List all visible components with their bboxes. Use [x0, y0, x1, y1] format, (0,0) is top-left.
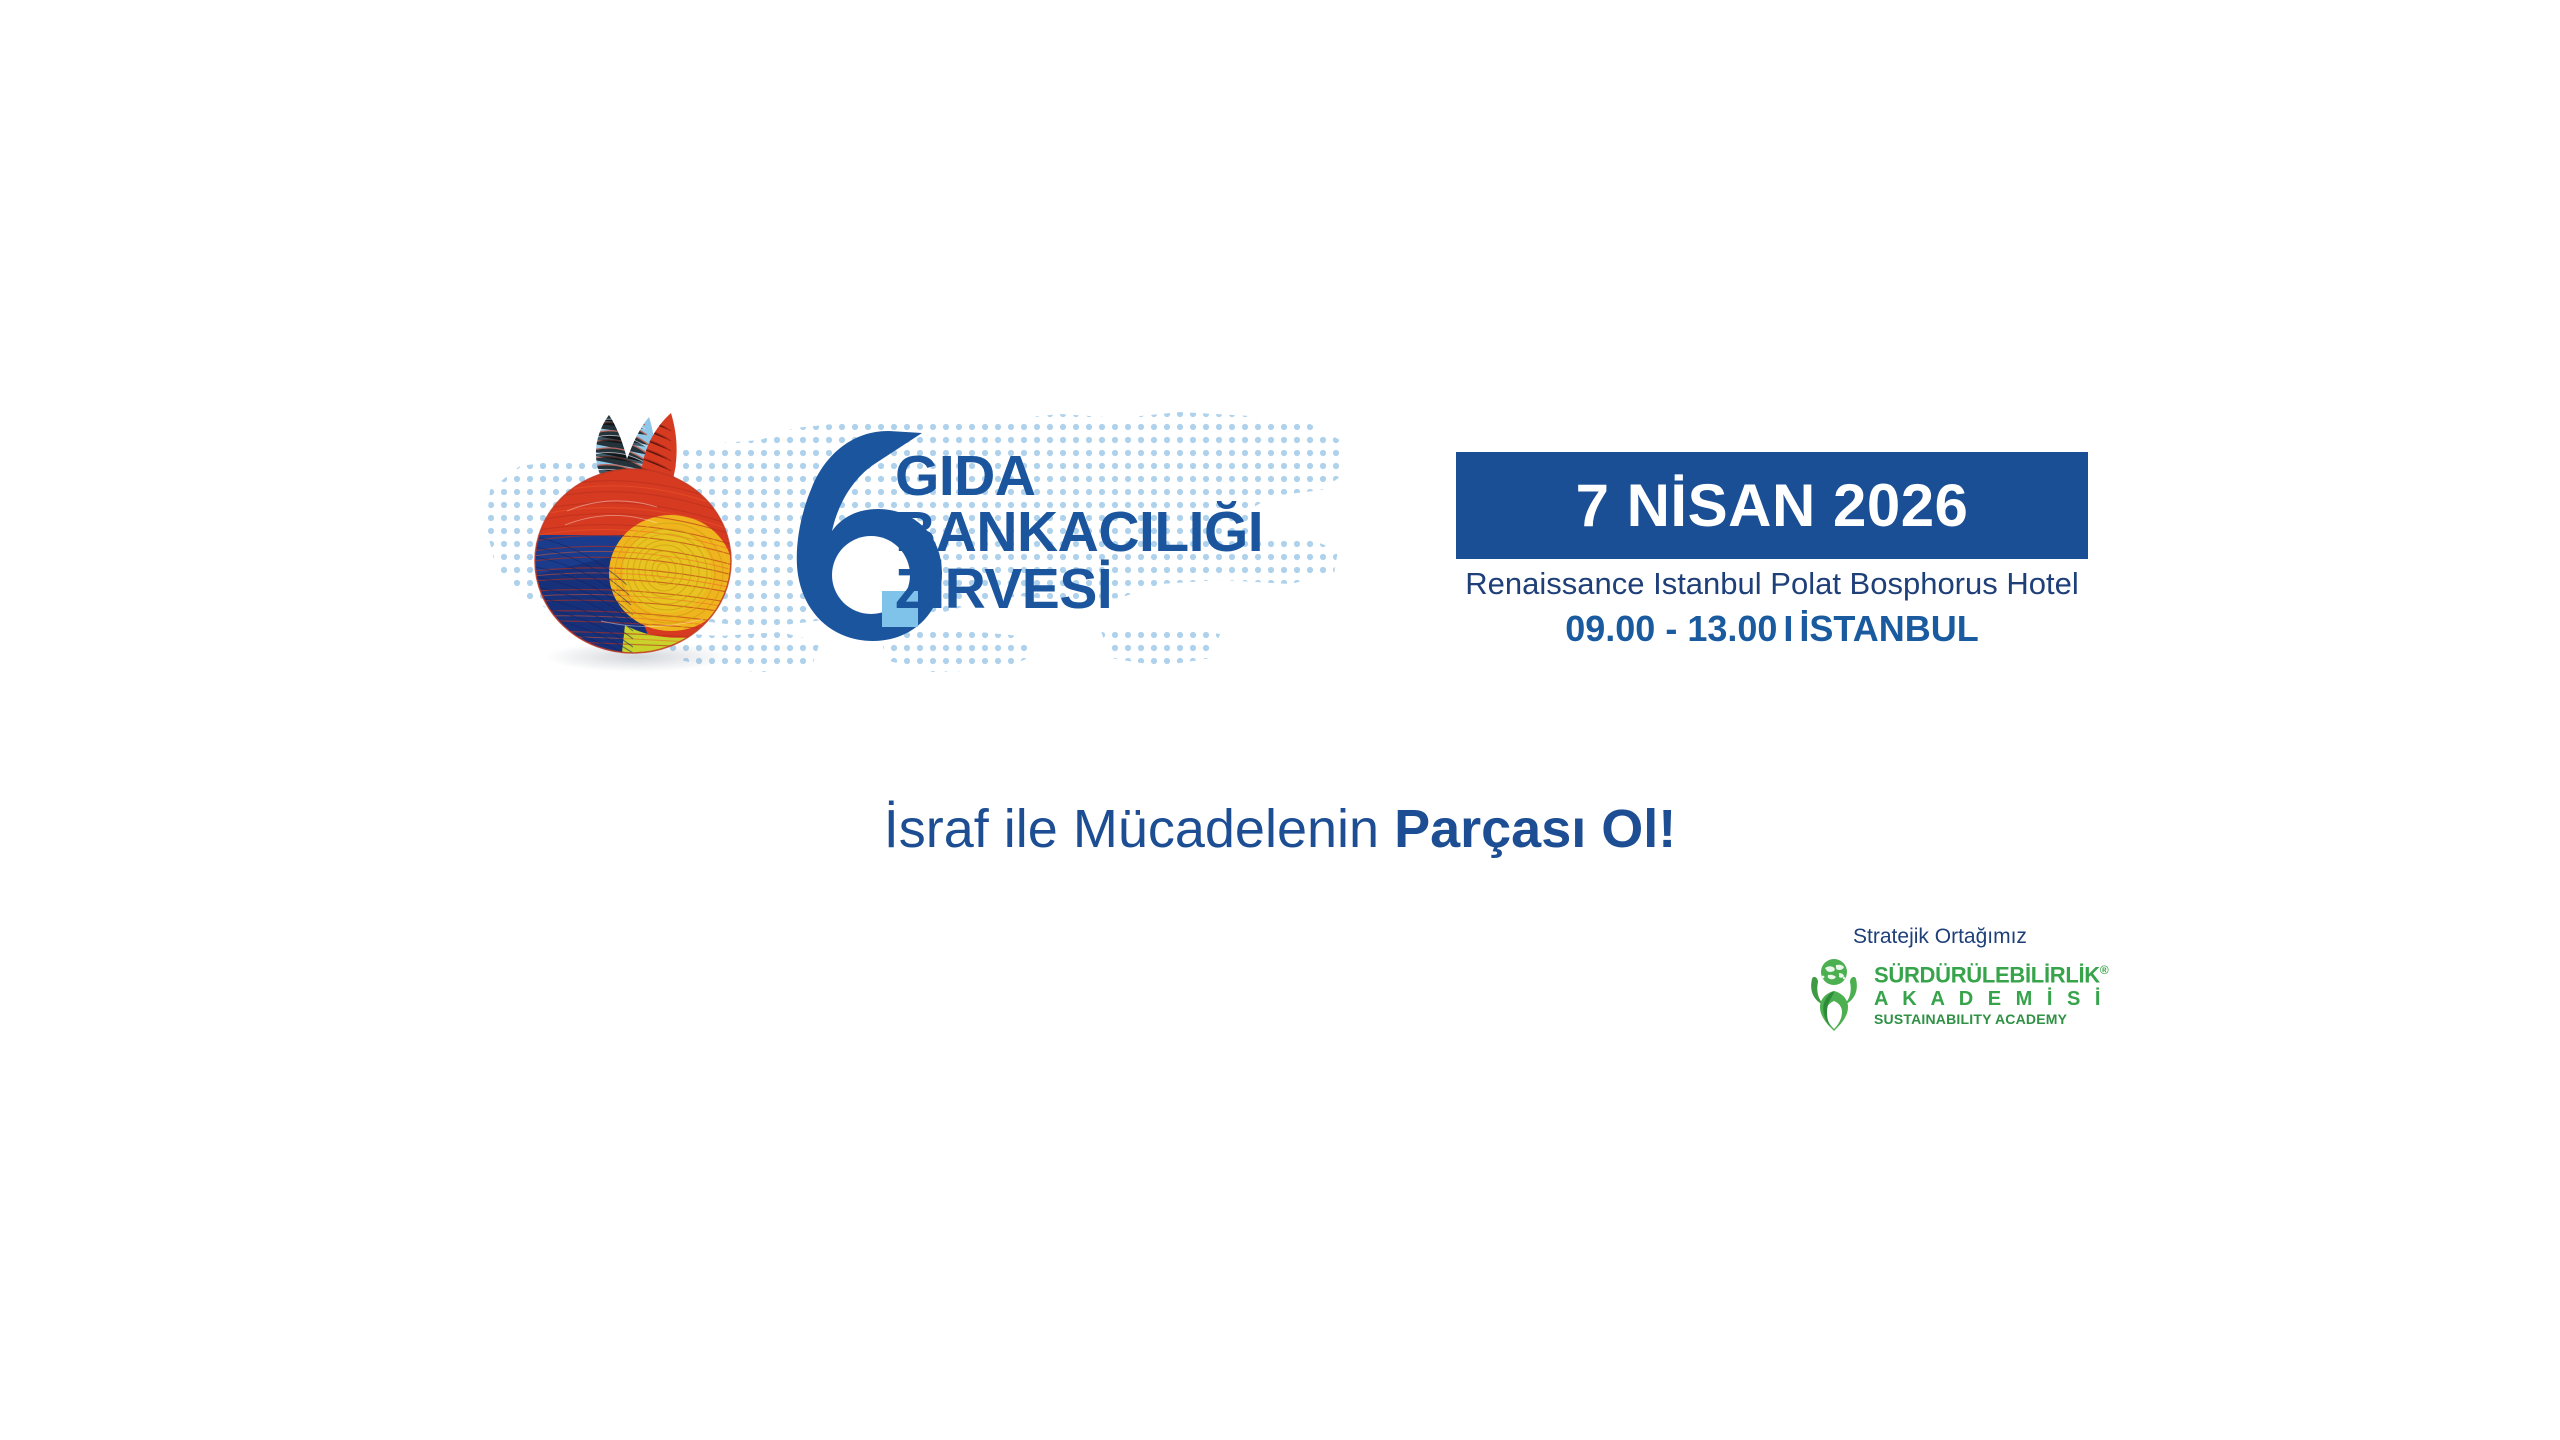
- pomegranate-sketch-icon: [505, 385, 765, 675]
- partner-name-line-3: SUSTAINABILITY ACADEMY: [1874, 1012, 2108, 1026]
- time-city-separator: I: [1777, 608, 1799, 649]
- partner-name-line-1: SÜRDÜRÜLEBİLİRLİK®: [1874, 964, 2108, 986]
- strategic-partner-label: Stratejik Ortağımız: [1790, 925, 2090, 949]
- partner-name-line-2: A K A D E M İ S İ: [1874, 989, 2108, 1009]
- event-date-text: 7 NİSAN 2026: [1576, 471, 1969, 540]
- partner-name-block: SÜRDÜRÜLEBİLİRLİK® A K A D E M İ S İ SUS…: [1874, 964, 2108, 1025]
- green-figure-globe-icon: [1798, 957, 1870, 1033]
- partner-logo: SÜRDÜRÜLEBİLİRLİK® A K A D E M İ S İ SUS…: [1790, 957, 2090, 1033]
- campaign-tagline: İsraf ile Mücadelenin Parçası Ol!: [0, 798, 2560, 860]
- event-city: İSTANBUL: [1799, 608, 1978, 649]
- tagline-strong-part: Parçası Ol!: [1394, 799, 1676, 859]
- wordmark-line-bankaciligi: BANKACILIĞI: [895, 504, 1365, 560]
- tagline-regular-part: İsraf ile Mücadelenin: [884, 799, 1379, 859]
- strategic-partner-block: Stratejik Ortağımız: [1790, 925, 2090, 1033]
- registered-trademark-icon: ®: [2100, 963, 2109, 977]
- summit-wordmark: GIDA BANKACILIĞI ZİRVESİ: [895, 448, 1365, 617]
- wordmark-line-gida: GIDA: [895, 448, 1365, 504]
- event-time: 09.00 - 13.00: [1565, 608, 1777, 649]
- partner-name-main: SÜRDÜRÜLEBİLİRLİK: [1874, 963, 2100, 988]
- wordmark-line-zirvesi: ZİRVESİ: [895, 561, 1365, 617]
- event-date-badge: 7 NİSAN 2026: [1456, 452, 2088, 559]
- event-venue: Renaissance Istanbul Polat Bosphorus Hot…: [1456, 566, 2088, 602]
- event-time-and-city: 09.00 - 13.00IİSTANBUL: [1456, 608, 2088, 650]
- event-poster: GIDA BANKACILIĞI ZİRVESİ 7 NİSAN 2026 Re…: [0, 0, 2560, 1440]
